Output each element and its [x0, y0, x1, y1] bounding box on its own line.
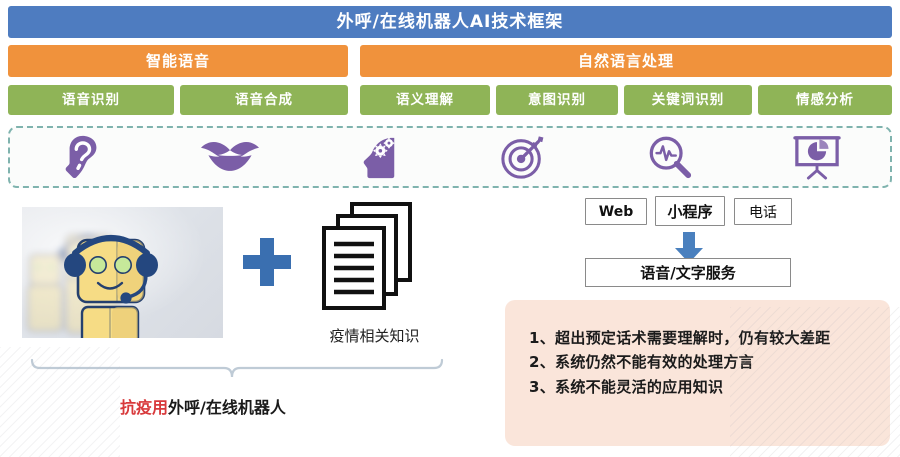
issue-item-3: 3、系统不能灵活的应用知识 — [529, 375, 890, 399]
issues-panel: 1、超出预定话术需要理解时，仍有较大差距 2、系统仍然不能有效的处理方言 3、系… — [505, 300, 890, 446]
slide-root: 外呼/在线机器人AI技术框架 智能语音 自然语言处理 语音识别 语音合成 语义理… — [0, 0, 900, 457]
scope-brace — [28, 358, 446, 388]
level3-label: 语音识别 — [62, 93, 120, 108]
icon-cell-ear — [10, 128, 157, 186]
level3-item-keyword-recognition[interactable]: 关键词识别 — [624, 85, 752, 115]
target-dart-icon — [500, 134, 546, 180]
caption-highlight: 抗疫用 — [120, 398, 168, 417]
level2-label: 自然语言处理 — [578, 53, 674, 70]
level3-label: 关键词识别 — [652, 93, 725, 108]
level3-item-semantic-understanding[interactable]: 语义理解 — [360, 85, 490, 115]
level2-item-intelligent-speech[interactable]: 智能语音 — [8, 45, 348, 77]
issue-item-2: 2、系统仍然不能有效的处理方言 — [529, 350, 890, 374]
caption-rest: 外呼/在线机器人 — [168, 398, 286, 417]
issue-item-1: 1、超出预定话术需要理解时，仍有较大差距 — [529, 326, 890, 350]
capability-icon-strip — [8, 126, 892, 188]
icon-cell-target-dart — [450, 128, 597, 186]
plus-symbol — [243, 238, 291, 286]
level3-item-intent-recognition[interactable]: 意图识别 — [496, 85, 618, 115]
level3-label: 语音合成 — [235, 93, 293, 108]
head-gears-icon — [354, 134, 400, 180]
level3-item-sentiment-analysis[interactable]: 情感分析 — [758, 85, 892, 115]
level3-label: 情感分析 — [796, 93, 854, 108]
level3-label: 语义理解 — [396, 93, 454, 108]
channel-label: 电话 — [749, 202, 777, 222]
framework-title: 外呼/在线机器人AI技术框架 — [337, 13, 564, 32]
channel-label: 小程序 — [667, 201, 712, 222]
level3-item-speech-recognition[interactable]: 语音识别 — [8, 85, 174, 115]
channel-label: Web — [599, 204, 633, 220]
icon-cell-head-gears — [303, 128, 450, 186]
level3-label: 意图识别 — [528, 93, 586, 108]
robot-caption: 抗疫用外呼/在线机器人 — [120, 394, 286, 418]
framework-title-bar: 外呼/在线机器人AI技术框架 — [8, 6, 892, 38]
icon-cell-lips — [157, 128, 304, 186]
icon-cell-magnifier-waveform — [597, 128, 744, 186]
service-label: 语音/文字服务 — [640, 262, 735, 283]
service-box[interactable]: 语音/文字服务 — [585, 258, 791, 287]
level2-item-nlp[interactable]: 自然语言处理 — [360, 45, 892, 77]
channel-box-miniprogram[interactable]: 小程序 — [655, 196, 725, 226]
robot-illustration — [22, 207, 223, 338]
icon-cell-presentation-chart — [743, 128, 890, 186]
channel-box-phone[interactable]: 电话 — [734, 198, 792, 225]
documents-label: 疫情相关知识 — [302, 325, 447, 346]
lips-icon — [201, 137, 259, 177]
presentation-chart-icon — [793, 134, 841, 180]
level2-label: 智能语音 — [146, 53, 210, 70]
level3-item-speech-synthesis[interactable]: 语音合成 — [180, 85, 348, 115]
magnifier-waveform-icon — [647, 134, 693, 180]
robot-photo — [22, 207, 223, 338]
channel-box-web[interactable]: Web — [585, 198, 647, 225]
ear-icon — [60, 134, 106, 180]
documents-stack-icon — [318, 200, 428, 312]
